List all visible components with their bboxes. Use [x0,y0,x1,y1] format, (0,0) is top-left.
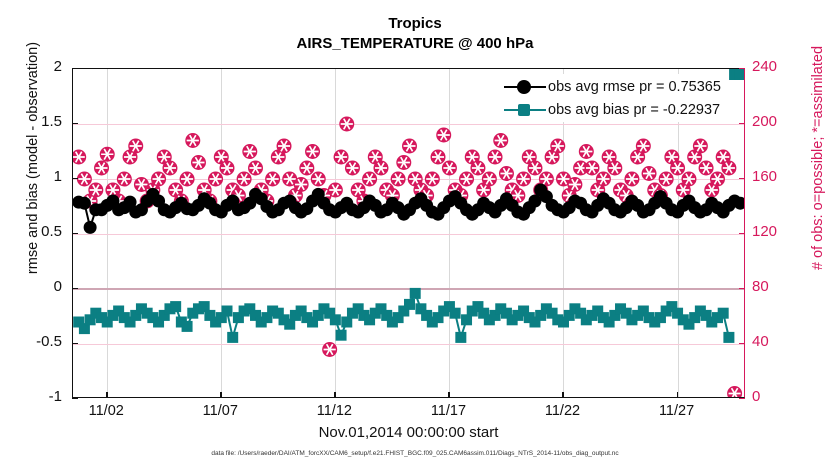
square-marker [404,299,415,310]
y-axis-right-tick-label: 240 [752,58,777,75]
square-marker [455,332,466,343]
square-marker [410,288,421,299]
y-axis-left-tickmark [72,288,78,289]
y-axis-right-tickmark [739,398,745,399]
y-axis-right-tickmark [739,68,745,69]
legend-label: obs avg bias pr = -0.22937 [546,102,720,118]
x-axis-tickmark [562,392,563,398]
y-axis-left-tickmark [72,398,78,399]
circle-marker [528,195,541,208]
x-axis-tick-label: 11/07 [185,403,255,419]
legend-symbol [504,102,546,118]
y-axis-left-title: rmse and bias (model - observation) [25,0,41,323]
y-axis-right-tickmark [739,343,745,344]
obs-count-marker [727,386,742,397]
y-axis-left-tickmark [72,68,78,69]
circle-marker [78,197,91,210]
square-marker [336,330,347,341]
legend-item[interactable]: obs avg bias pr = -0.22937 [504,99,721,120]
y-axis-right-tickmark [739,288,745,289]
legend-symbol [504,79,546,95]
x-axis-tickmark [106,392,107,398]
square-marker [182,321,193,332]
page-title: Tropics [0,15,830,32]
square-marker [723,332,734,343]
x-axis-tickmark [220,392,221,398]
y-axis-left-tickmark [72,233,78,234]
y-axis-right-tickmark [739,178,745,179]
square-marker [330,314,341,325]
chart-subtitle: AIRS_TEMPERATURE @ 400 hPa [0,35,830,52]
y-axis-left-tick-label: -0.5 [6,333,62,350]
y-axis-right-tick-label: 80 [752,278,769,295]
square-marker [227,332,238,343]
y-axis-right-tick-label: 40 [752,333,769,350]
circle-marker [517,80,531,94]
square-marker [718,308,729,319]
legend-item[interactable]: obs avg rmse pr = 0.75365 [504,76,721,97]
circle-marker [84,221,97,234]
square-marker [221,306,232,317]
y-axis-left-tick-label: -1 [6,388,62,405]
figure-canvas: Tropics AIRS_TEMPERATURE @ 400 hPa -1-0.… [0,0,830,470]
chart-legend[interactable]: obs avg rmse pr = 0.75365obs avg bias pr… [502,74,725,122]
legend-label: obs avg rmse pr = 0.75365 [546,79,721,95]
y-axis-right-tick-label: 0 [752,388,760,405]
y-axis-right-tick-label: 200 [752,113,777,130]
x-axis-title: Nov.01,2014 00:00:00 start [72,424,745,441]
square-marker [518,104,530,116]
x-axis-tickmark [448,392,449,398]
square-marker [450,308,461,319]
y-axis-right-tickmark [739,233,745,234]
y-axis-left-tickmark [72,178,78,179]
y-axis-right-title: # of obs: o=possible; *=assimilated [810,0,826,323]
x-axis-tickmark [677,392,678,398]
x-axis-tick-label: 11/22 [527,403,597,419]
y-axis-right-tick-label: 120 [752,223,777,240]
y-axis-right-tick-label: 160 [752,168,777,185]
y-axis-left-tickmark [72,343,78,344]
y-axis-right-tickmark [739,123,745,124]
square-marker [170,301,181,312]
x-axis-tick-label: 11/27 [642,403,712,419]
data-file-footer: data file: /Users/raeder/DAI/ATM_forcXX/… [0,450,830,457]
x-axis-tick-label: 11/02 [71,403,141,419]
y-axis-left-tickmark [72,123,78,124]
x-axis-tickmark [334,392,335,398]
x-axis-tick-label: 11/12 [299,403,369,419]
x-axis-tick-label: 11/17 [413,403,483,419]
square-marker [735,69,744,80]
